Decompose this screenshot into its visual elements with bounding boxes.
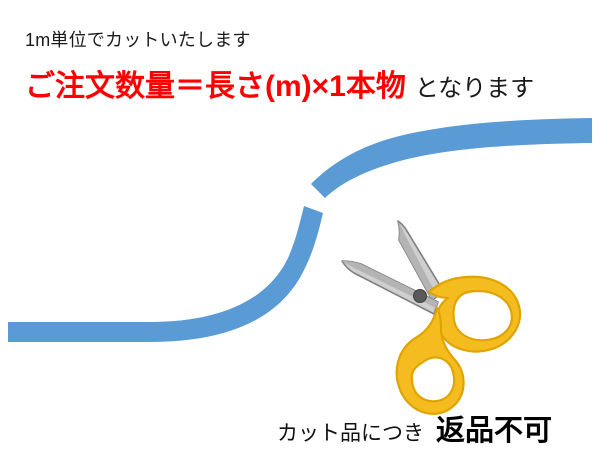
order-formula-suffix: となります bbox=[415, 75, 534, 102]
return-policy-prefix: カット品につき bbox=[277, 422, 424, 445]
blue-cable-left-segment bbox=[8, 206, 323, 342]
order-formula-red: ご注文数量＝長さ(m)×1本物 bbox=[25, 70, 406, 103]
return-policy-emphasis: 返品不可 bbox=[436, 415, 552, 447]
return-policy-note: カット品につき返品不可 bbox=[277, 417, 552, 446]
scissors bbox=[342, 221, 520, 414]
blue-cable-right-segment bbox=[311, 118, 592, 198]
cut-unit-note: 1m単位でカットいたします bbox=[25, 31, 251, 49]
slide-canvas: 1m単位でカットいたします ご注文数量＝長さ(m)×1本物となります カット品に… bbox=[0, 0, 600, 466]
order-formula: ご注文数量＝長さ(m)×1本物となります bbox=[25, 72, 534, 102]
scissors-pivot-screw bbox=[414, 290, 427, 303]
